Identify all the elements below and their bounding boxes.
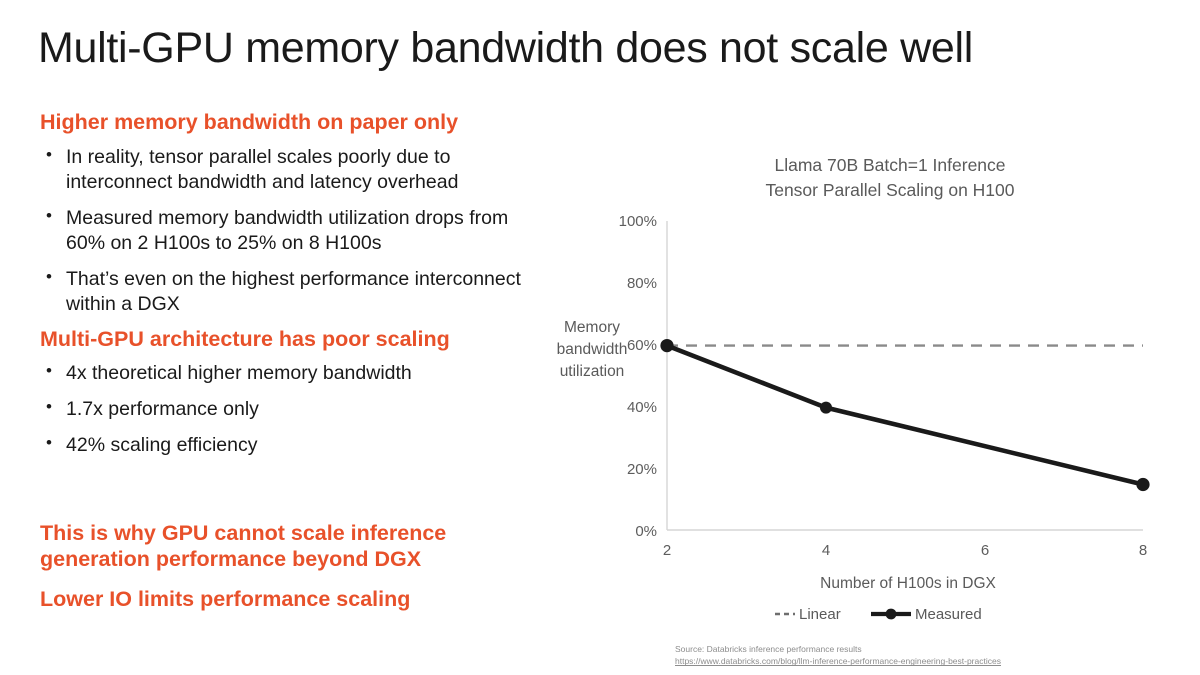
data-point-marker [820, 402, 832, 414]
legend-label-linear: Linear [799, 606, 841, 623]
closing-statement-secondary: Lower IO limits performance scaling [40, 587, 560, 613]
list-item: That’s even on the highest performance i… [40, 267, 545, 317]
y-tick-label: 20% [627, 461, 657, 478]
list-item: In reality, tensor parallel scales poorl… [40, 145, 545, 195]
list-item: 1.7x performance only [40, 397, 545, 422]
page-title: Multi-GPU memory bandwidth does not scal… [38, 24, 1138, 73]
bullet-list-poor-scaling: 4x theoretical higher memory bandwidth 1… [40, 361, 545, 458]
y-tick-label: 100% [619, 213, 657, 230]
line-chart-svg: 100% 80% 60% 40% 20% 0% Memory bandwidth… [520, 145, 1180, 645]
data-point-marker [660, 339, 673, 352]
list-item: 42% scaling efficiency [40, 433, 545, 458]
x-tick-label: 8 [1139, 542, 1147, 559]
y-axis-title-line-1: Memory [564, 319, 620, 336]
source-text: Source: Databricks inference performance… [675, 643, 1001, 655]
slide-canvas: Multi-GPU memory bandwidth does not scal… [0, 0, 1200, 675]
y-tick-label: 0% [635, 523, 657, 540]
bullet-list-paper-only: In reality, tensor parallel scales poorl… [40, 145, 545, 317]
legend-marker-measured [886, 609, 897, 620]
x-tick-label: 6 [981, 542, 989, 559]
chart-source-footnote: Source: Databricks inference performance… [675, 643, 1001, 668]
y-axis-title-line-3: utilization [560, 363, 625, 380]
closing-statements: This is why GPU cannot scale inference g… [40, 521, 560, 612]
section-heading-paper-only: Higher memory bandwidth on paper only [40, 110, 545, 136]
closing-statement-primary: This is why GPU cannot scale inference g… [40, 521, 560, 573]
y-tick-label: 60% [627, 337, 657, 354]
data-point-marker [1136, 478, 1149, 491]
left-content-column: Higher memory bandwidth on paper only In… [40, 110, 545, 468]
y-tick-label: 80% [627, 275, 657, 292]
chart-container: Llama 70B Batch=1 Inference Tensor Paral… [520, 145, 1180, 665]
y-axis-title-line-2: bandwidth [557, 341, 628, 358]
y-tick-label: 40% [627, 399, 657, 416]
chart-legend: Linear Measured [775, 606, 982, 623]
series-measured-line [667, 346, 1143, 485]
x-tick-label: 4 [822, 542, 830, 559]
list-item: Measured memory bandwidth utilization dr… [40, 206, 545, 256]
section-heading-poor-scaling: Multi-GPU architecture has poor scaling [40, 327, 545, 353]
x-axis-title: Number of H100s in DGX [820, 575, 996, 592]
legend-label-measured: Measured [915, 606, 982, 623]
x-tick-label: 2 [663, 542, 671, 559]
list-item: 4x theoretical higher memory bandwidth [40, 361, 545, 386]
source-url[interactable]: https://www.databricks.com/blog/llm-infe… [675, 655, 1001, 667]
